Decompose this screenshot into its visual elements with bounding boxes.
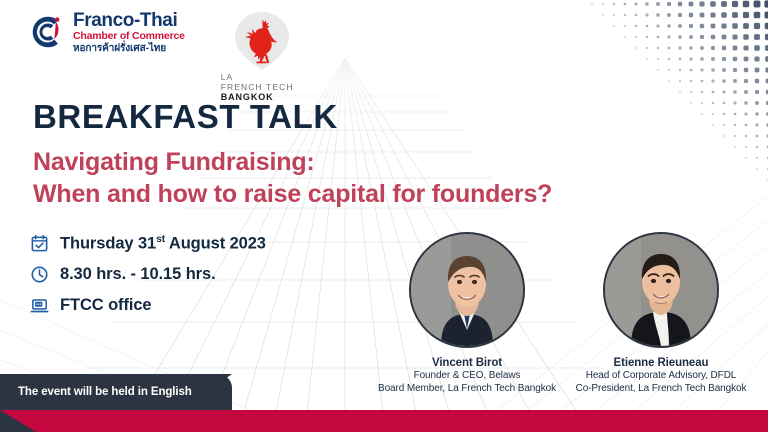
ftcc-logo: Franco-Thai Chamber of Commerce หอการค้า… <box>30 10 185 54</box>
date-suffix: August 2023 <box>165 234 266 252</box>
speaker-card: Vincent Birot Founder & CEO, Belaws Boar… <box>372 232 562 395</box>
ftcc-name-line: Franco-Thai <box>73 11 185 30</box>
detail-row-time: 8.30 hrs. - 10.15 hrs. <box>30 259 266 290</box>
headline: BREAKFAST TALK <box>33 98 338 136</box>
speaker-photo-etienne-rieuneau <box>603 232 719 348</box>
ftcc-thai-line: หอการค้าฝรั่งเศส-ไทย <box>73 44 185 54</box>
calendar-check-icon <box>30 234 49 253</box>
speaker-role-line-2: Co-President, La French Tech Bangkok <box>566 382 756 395</box>
ftcc-subtitle-line: Chamber of Commerce <box>73 31 185 42</box>
language-banner: The event will be held in English <box>0 374 232 410</box>
clock-icon <box>30 265 49 284</box>
speaker-role-line-1: Head of Corporate Advisory, DFDL <box>566 369 756 382</box>
detail-time-text: 8.30 hrs. - 10.15 hrs. <box>60 265 216 284</box>
detail-row-date: Thursday 31st August 2023 <box>30 228 266 259</box>
speakers-row: Vincent Birot Founder & CEO, Belaws Boar… <box>372 232 756 395</box>
french-tech-logo: LA FRENCH TECH BANGKOK <box>221 10 307 102</box>
speaker-photo-vincent-birot <box>409 232 525 348</box>
subtitle: Navigating Fundraising: When and how to … <box>33 146 552 210</box>
laptop-presentation-icon <box>30 296 49 315</box>
speaker-card: Etienne Rieuneau Head of Corporate Advis… <box>566 232 756 395</box>
french-tech-line2: FRENCH TECH <box>221 83 307 93</box>
bottom-bar-notch <box>0 410 36 432</box>
event-poster: Franco-Thai Chamber of Commerce หอการค้า… <box>0 0 768 432</box>
date-ordinal-suffix: st <box>156 234 165 245</box>
detail-location-text: FTCC office <box>60 296 151 315</box>
halftone-dot-pattern <box>588 0 768 200</box>
date-prefix: Thursday 31 <box>60 234 156 252</box>
speaker-name: Etienne Rieuneau <box>566 357 756 369</box>
logo-row: Franco-Thai Chamber of Commerce หอการค้า… <box>30 10 307 102</box>
ftcc-wordmark: Franco-Thai Chamber of Commerce หอการค้า… <box>73 10 185 54</box>
speaker-name: Vincent Birot <box>372 357 562 369</box>
rooster-pin-icon <box>223 10 301 72</box>
cci-circle-icon <box>30 14 66 50</box>
language-banner-text: The event will be held in English <box>18 386 192 398</box>
subtitle-line-2: When and how to raise capital for founde… <box>33 178 552 210</box>
detail-date-text: Thursday 31st August 2023 <box>60 234 266 254</box>
speaker-role-line-1: Founder & CEO, Belaws <box>372 369 562 382</box>
detail-row-location: FTCC office <box>30 290 266 321</box>
subtitle-line-1: Navigating Fundraising: <box>33 146 552 178</box>
bottom-accent-bar <box>0 410 768 432</box>
event-details-list: Thursday 31st August 2023 8.30 hrs. - 10… <box>30 228 266 321</box>
speaker-role-line-2: Board Member, La French Tech Bangkok <box>372 382 562 395</box>
